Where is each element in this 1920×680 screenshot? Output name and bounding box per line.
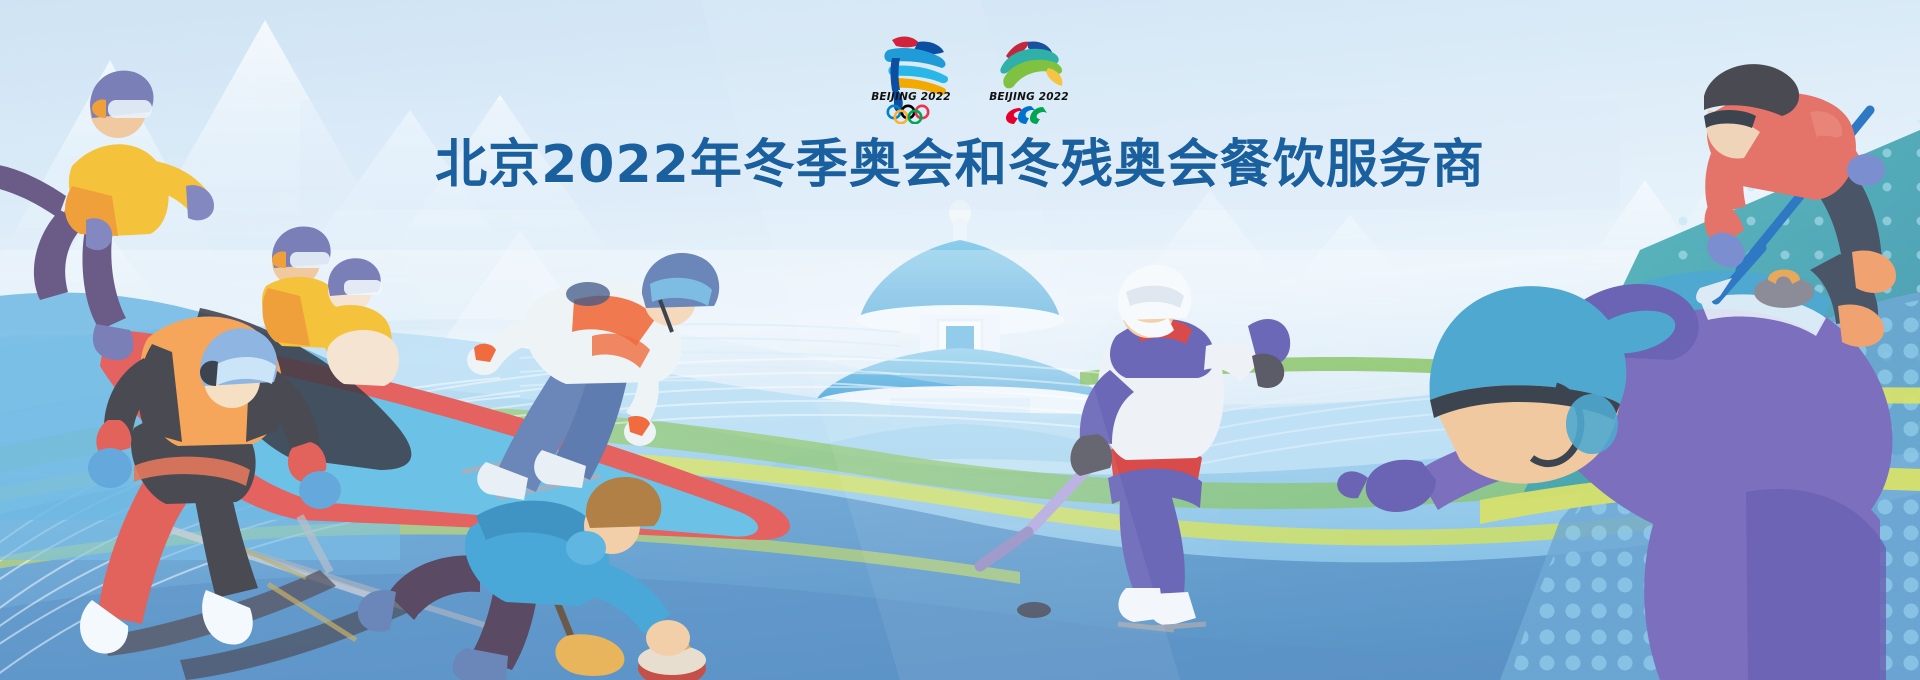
olympic-rings-icon [888, 106, 928, 123]
olympic-logo[interactable]: BEIJING 2022 [858, 28, 964, 124]
paralympic-logo[interactable]: BEIJING 2022 [976, 28, 1082, 124]
olympic-wordmark: BEIJING 2022 [871, 91, 951, 103]
paralympic-emblem-icon [1000, 41, 1062, 88]
paralympic-wordmark: BEIJING 2022 [989, 91, 1069, 103]
page-title: 北京2022年冬季奥会和冬残奥会餐饮服务商 [0, 122, 1920, 197]
logo-group: BEIJING 2022 BEI [858, 28, 1088, 124]
beijing-2022-banner: BEIJING 2022 BEI [0, 0, 1920, 680]
